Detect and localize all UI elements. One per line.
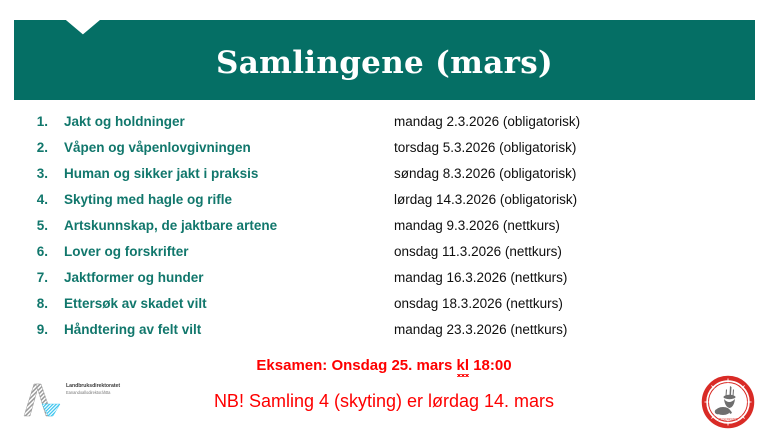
list-item-number: 7. bbox=[0, 270, 64, 285]
list-item-number: 2. bbox=[0, 140, 64, 155]
list-item-date: lørdag 14.3.2026 (obligatorisk) bbox=[394, 192, 768, 207]
list-item: 6. Lover og forskrifter onsdag 11.3.2026… bbox=[0, 244, 768, 270]
list-item-topic: Jaktformer og hunder bbox=[64, 270, 394, 285]
list-item-date: mandag 9.3.2026 (nettkurs) bbox=[394, 218, 768, 233]
landbruksdirektoratet-wordmark: Landbruksdirektoratet Eanandoallodirekto… bbox=[66, 383, 138, 395]
list-item-number: 1. bbox=[0, 114, 64, 129]
agenda-list: 1. Jakt og holdninger mandag 2.3.2026 (o… bbox=[0, 114, 768, 348]
hunting-club-seal-icon: JEGERKURS bbox=[700, 375, 756, 429]
list-item-topic: Håndtering av felt vilt bbox=[64, 322, 394, 337]
list-item-topic: Human og sikker jakt i praksis bbox=[64, 166, 394, 181]
list-item-topic: Lover og forskrifter bbox=[64, 244, 394, 259]
list-item-date: torsdag 5.3.2026 (obligatorisk) bbox=[394, 140, 768, 155]
list-item-date: mandag 16.3.2026 (nettkurs) bbox=[394, 270, 768, 285]
slide: Samlingene (mars) 1. Jakt og holdninger … bbox=[0, 0, 768, 433]
list-item-topic: Våpen og våpenlovgivningen bbox=[64, 140, 394, 155]
list-item: 9. Håndtering av felt vilt mandag 23.3.2… bbox=[0, 322, 768, 348]
list-item-topic: Artskunnskap, de jaktbare artene bbox=[64, 218, 394, 233]
list-item-date: mandag 23.3.2026 (nettkurs) bbox=[394, 322, 768, 337]
mountain-water-logo-icon bbox=[22, 380, 62, 418]
list-item: 7. Jaktformer og hunder mandag 16.3.2026… bbox=[0, 270, 768, 296]
list-item-number: 8. bbox=[0, 296, 64, 311]
list-item-date: mandag 2.3.2026 (obligatorisk) bbox=[394, 114, 768, 129]
landbruksdirektoratet-logo: Landbruksdirektoratet Eanandoallodirekto… bbox=[22, 380, 137, 418]
list-item-topic: Skyting med hagle og rifle bbox=[64, 192, 394, 207]
page-title: Samlingene (mars) bbox=[216, 42, 553, 79]
list-item-topic: Ettersøk av skadet vilt bbox=[64, 296, 394, 311]
exam-note-suffix: 18:00 bbox=[469, 357, 512, 374]
exam-note-prefix: Eksamen: Onsdag 25. mars bbox=[256, 357, 456, 374]
list-item-date: søndag 8.3.2026 (obligatorisk) bbox=[394, 166, 768, 181]
list-item: 8. Ettersøk av skadet vilt onsdag 18.3.2… bbox=[0, 296, 768, 322]
list-item: 3. Human og sikker jakt i praksis søndag… bbox=[0, 166, 768, 192]
list-item: 5. Artskunnskap, de jaktbare artene mand… bbox=[0, 218, 768, 244]
list-item: 2. Våpen og våpenlovgivningen torsdag 5.… bbox=[0, 140, 768, 166]
svg-text:JEGERKURS: JEGERKURS bbox=[718, 418, 737, 422]
list-item-number: 6. bbox=[0, 244, 64, 259]
list-item-date: onsdag 18.3.2026 (nettkurs) bbox=[394, 296, 768, 311]
list-item-date: onsdag 11.3.2026 (nettkurs) bbox=[394, 244, 768, 259]
list-item: 4. Skyting med hagle og rifle lørdag 14.… bbox=[0, 192, 768, 218]
exam-note: Eksamen: Onsdag 25. mars kl 18:00 bbox=[0, 357, 768, 374]
list-item-topic: Jakt og holdninger bbox=[64, 114, 394, 129]
list-item-number: 5. bbox=[0, 218, 64, 233]
title-banner: Samlingene (mars) bbox=[14, 20, 755, 100]
list-item-number: 4. bbox=[0, 192, 64, 207]
logo-name-sami: Eanandoallodirektoráhtta bbox=[66, 390, 138, 395]
list-item: 1. Jakt og holdninger mandag 2.3.2026 (o… bbox=[0, 114, 768, 140]
exam-note-misspelled-word: kl bbox=[457, 357, 470, 374]
list-item-number: 3. bbox=[0, 166, 64, 181]
list-item-number: 9. bbox=[0, 322, 64, 337]
